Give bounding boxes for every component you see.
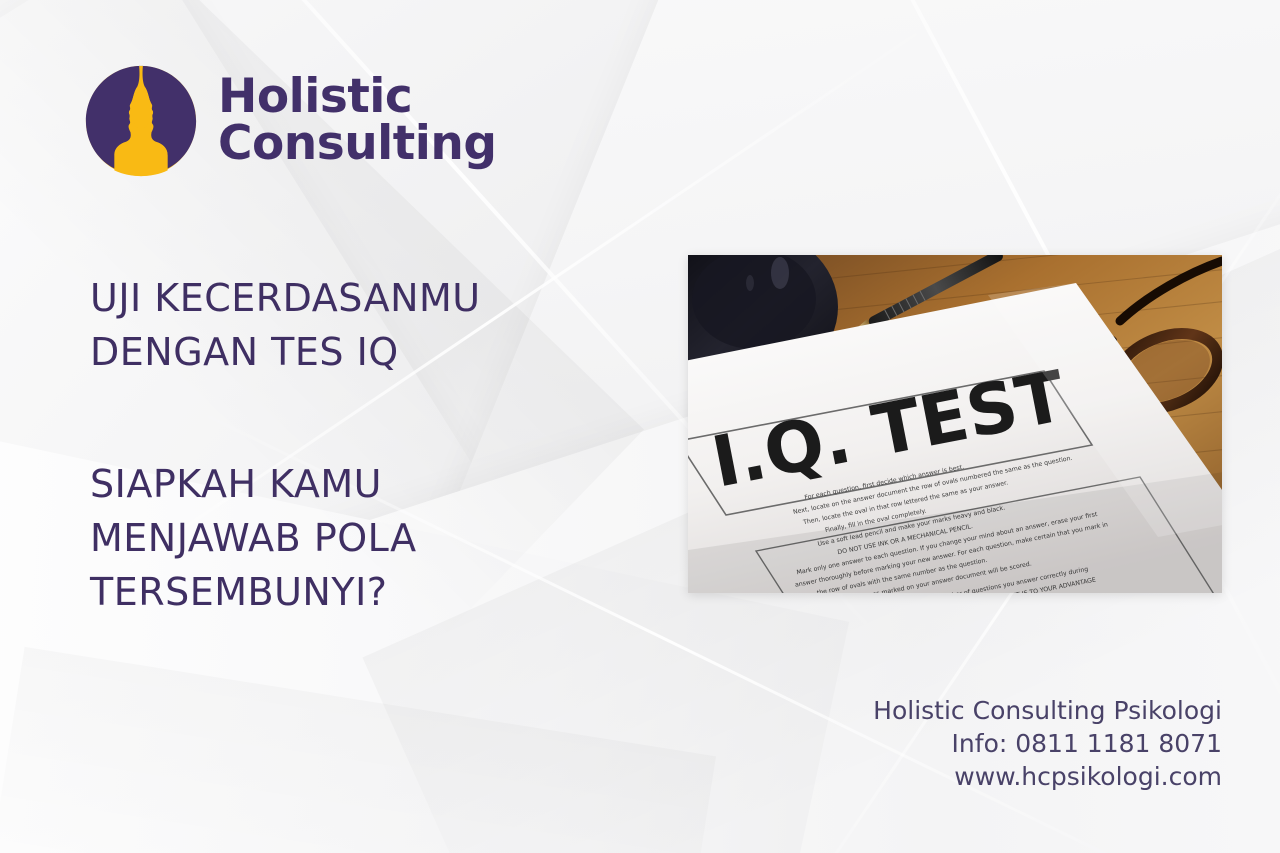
brand-logo: HolisticConsulting [84, 64, 496, 178]
background-shadow [0, 647, 716, 853]
headline-secondary: SIAPKAH KAMU MENJAWAB POLA TERSEMBUNYI? [90, 458, 417, 620]
iq-test-paper-photo: I.Q. TEST For each question, first decid… [688, 255, 1222, 593]
poster-canvas: HolisticConsulting UJI KECERDASANMU DENG… [0, 0, 1280, 853]
footer-website[interactable]: www.hcpsikologi.com [873, 760, 1222, 793]
footer-company: Holistic Consulting Psikologi [873, 694, 1222, 727]
two-faces-circle-logo-icon [84, 64, 198, 178]
footer-contact: Holistic Consulting Psikologi Info: 0811… [873, 694, 1222, 793]
brand-wordmark: HolisticConsulting [218, 74, 496, 167]
footer-phone[interactable]: Info: 0811 1181 8071 [873, 727, 1222, 760]
headline-primary: UJI KECERDASANMU DENGAN TES IQ [90, 272, 481, 380]
brand-wordmark-line2: Consulting [218, 116, 496, 171]
iq-test-photo-illustration: I.Q. TEST For each question, first decid… [688, 255, 1222, 593]
